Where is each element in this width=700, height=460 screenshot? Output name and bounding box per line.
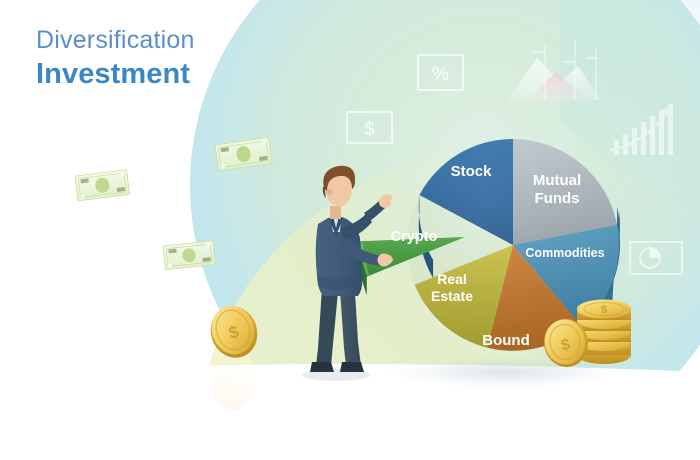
illustration-canvas: % $: [0, 0, 700, 460]
page-title: Diversification Investment: [36, 28, 195, 89]
gold-coin-single: $: [204, 300, 264, 415]
title-line-investment: Investment: [36, 60, 195, 89]
title-line-diversification: Diversification: [36, 28, 195, 53]
coin-stack-dollar-symbol: $: [601, 304, 607, 316]
